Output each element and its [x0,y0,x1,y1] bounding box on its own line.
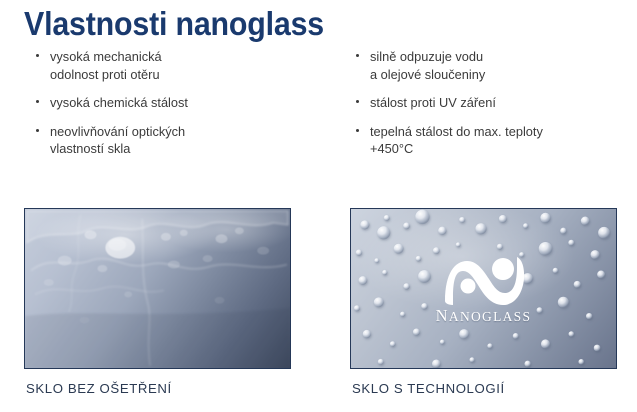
untreated-glass-image [24,208,291,369]
list-item: stálost proti UV záření [354,94,619,112]
list-item: vysoká chemická stálost [34,94,284,112]
panel-caption: SKLO BEZ OŠETŘENÍ [26,380,172,398]
bullet-icon [356,54,359,57]
list-item-line: neovlivňování optických [50,123,284,141]
list-item: neovlivňování optických vlastností skla [34,123,284,158]
feature-column-right: silně odpuzuje vodu a olejové sloučeniny… [354,48,619,169]
page-title: Vlastnosti nanoglass [24,4,324,44]
list-item-line: +450°C [370,140,619,158]
panel-caption: SKLO S TECHNOLOGIÍ [352,380,505,398]
treated-glass-image: NANOGLASS [350,208,617,369]
bullet-icon [356,129,359,132]
list-item: tepelná stálost do max. teploty +450°C [354,123,619,158]
bullet-icon [356,100,359,103]
feature-lists: vysoká mechanická odolnost proti otěru v… [0,48,637,188]
water-film-overlay [25,209,290,369]
list-item-line: vlastností skla [50,140,284,158]
list-item-line: tepelná stálost do max. teploty [370,123,619,141]
water-droplets-overlay [351,209,616,369]
list-item-line: a olejové sloučeniny [370,66,619,84]
list-item: silně odpuzuje vodu a olejové sloučeniny [354,48,619,83]
list-item-line: odolnost proti otěru [50,66,284,84]
bullet-icon [36,100,39,103]
list-item-line: vysoká mechanická [50,48,284,66]
panel-untreated: SKLO BEZ OŠETŘENÍ [24,208,291,369]
bullet-icon [36,129,39,132]
panel-treated: NANOGLASS SKLO S TECHNOLOGIÍ [350,208,617,369]
bullet-icon [36,54,39,57]
comparison-panels: SKLO BEZ OŠETŘENÍ [0,208,637,412]
feature-column-left: vysoká mechanická odolnost proti otěru v… [34,48,284,169]
list-item-line: silně odpuzuje vodu [370,48,619,66]
list-item: vysoká mechanická odolnost proti otěru [34,48,284,83]
list-item-line: stálost proti UV záření [370,94,619,112]
list-item-line: vysoká chemická stálost [50,94,284,112]
